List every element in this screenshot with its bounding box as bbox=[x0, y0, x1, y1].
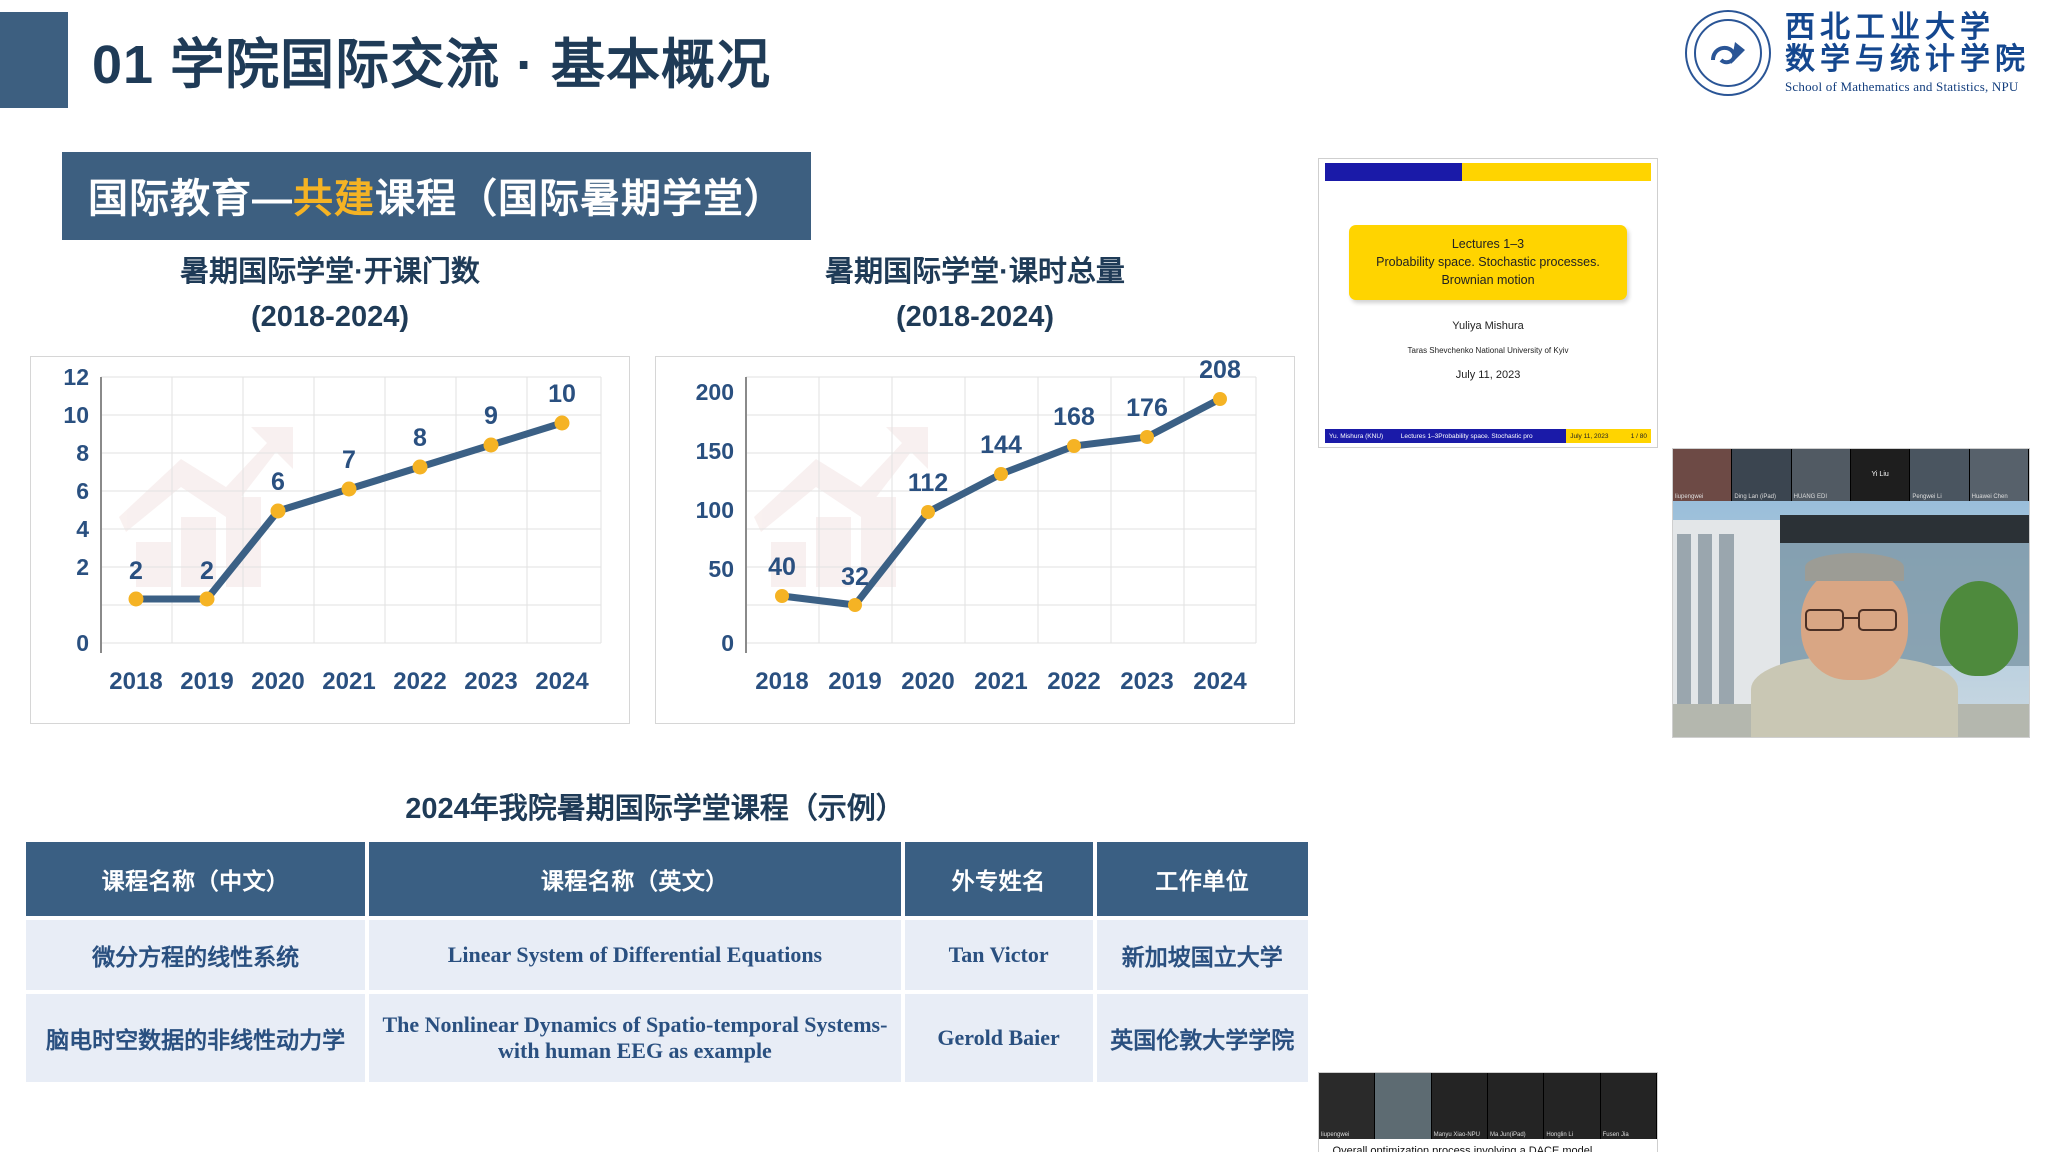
chart-total-hours: 暑期国际学堂·课时总量 (2018-2024) bbox=[655, 250, 1295, 724]
svg-text:9: 9 bbox=[484, 402, 498, 430]
svg-text:2018: 2018 bbox=[109, 668, 162, 695]
svg-text:150: 150 bbox=[696, 438, 734, 464]
svg-text:2023: 2023 bbox=[464, 668, 517, 695]
cell-course-en: Linear System of Differential Equations bbox=[369, 920, 901, 990]
zoom-tile-active: Yi Liu bbox=[1851, 449, 1910, 501]
beamer-topbar-blue bbox=[1325, 163, 1462, 181]
svg-text:0: 0 bbox=[721, 630, 734, 656]
svg-text:2023: 2023 bbox=[1120, 668, 1173, 695]
svg-text:2019: 2019 bbox=[180, 668, 233, 695]
dace-diagram-screenshot: liupengwei Manyu Xiao-NPU Ma Jun(iPad) H… bbox=[1318, 1072, 1658, 1152]
table-row: 脑电时空数据的非线性动力学 The Nonlinear Dynamics of … bbox=[26, 994, 1308, 1082]
svg-text:2021: 2021 bbox=[322, 668, 375, 695]
banner-text-before: 国际教育— bbox=[88, 177, 293, 221]
university-logo: 西北工业大学 数学与统计学院 School of Mathematics and… bbox=[1685, 10, 2030, 96]
zoom-participant-name: liupengwei bbox=[1675, 494, 1703, 500]
svg-text:2: 2 bbox=[129, 557, 143, 585]
zoom-participant-name: HUANG EDI bbox=[1794, 494, 1827, 500]
column-header-course-cn: 课程名称（中文） bbox=[26, 842, 365, 916]
svg-text:2024: 2024 bbox=[535, 668, 589, 695]
logo-english: School of Mathematics and Statistics, NP… bbox=[1785, 80, 2030, 94]
slide-root: 01 学院国际交流 · 基本概况 西北工业大学 数学与统计学院 School o… bbox=[0, 0, 2048, 1152]
zoom-tile: liupengwei bbox=[1319, 1073, 1375, 1139]
svg-text:8: 8 bbox=[76, 440, 89, 466]
svg-text:208: 208 bbox=[1199, 357, 1241, 384]
svg-text:4: 4 bbox=[76, 516, 89, 542]
beamer-footer-left: Yu. Mishura (KNU) bbox=[1325, 429, 1397, 443]
cell-course-en: The Nonlinear Dynamics of Spatio-tempora… bbox=[369, 994, 901, 1082]
column-header-course-en: 课程名称（英文） bbox=[369, 842, 901, 916]
zoom-tile: HUANG EDI bbox=[1792, 449, 1851, 501]
zoom-tile bbox=[1375, 1073, 1431, 1139]
zoom-tile: Ding Lan (iPad) bbox=[1732, 449, 1791, 501]
svg-text:2020: 2020 bbox=[901, 668, 954, 695]
cell-course-cn: 微分方程的线性系统 bbox=[26, 920, 365, 990]
svg-text:200: 200 bbox=[696, 379, 734, 405]
beamer-affiliation: Taras Shevchenko National University of … bbox=[1319, 346, 1657, 355]
page-title: 01 学院国际交流 · 基本概况 bbox=[92, 20, 771, 99]
course-table: 课程名称（中文） 课程名称（英文） 外专姓名 工作单位 微分方程的线性系统 Li… bbox=[22, 838, 1312, 1086]
chart2-frame: 200 150 100 50 0 40 bbox=[655, 356, 1295, 724]
svg-text:176: 176 bbox=[1126, 394, 1168, 422]
svg-text:0: 0 bbox=[76, 630, 89, 656]
logo-line-1: 西北工业大学 bbox=[1785, 12, 2030, 44]
svg-text:112: 112 bbox=[908, 469, 948, 497]
cell-institution: 英国伦敦大学学院 bbox=[1097, 994, 1308, 1082]
beamer-footer-mid: Lectures 1–3Probability space. Stochasti… bbox=[1397, 429, 1567, 443]
table-row: 微分方程的线性系统 Linear System of Differential … bbox=[26, 920, 1308, 990]
chart-open-courses: 暑期国际学堂·开课门数 (2018-2024) bbox=[30, 250, 630, 724]
svg-text:2: 2 bbox=[200, 557, 214, 585]
svg-text:2019: 2019 bbox=[828, 668, 881, 695]
svg-text:6: 6 bbox=[76, 478, 89, 504]
svg-text:2022: 2022 bbox=[1047, 668, 1100, 695]
svg-text:10: 10 bbox=[548, 380, 576, 408]
zoom-participant-name: Pengwei Li bbox=[1912, 494, 1941, 500]
table-header-row: 课程名称（中文） 课程名称（英文） 外专姓名 工作单位 bbox=[26, 842, 1308, 916]
beamer-footer-right: July 11, 2023 1 / 80 bbox=[1566, 429, 1651, 443]
banner-text-highlight: 共建 bbox=[293, 177, 375, 221]
column-header-institution: 工作单位 bbox=[1097, 842, 1308, 916]
beamer-title-box: Lectures 1–3 Probability space. Stochast… bbox=[1349, 225, 1626, 299]
svg-text:7: 7 bbox=[342, 446, 356, 474]
zoom-tile: Manyu Xiao-NPU bbox=[1432, 1073, 1488, 1139]
dace-caption: Overall optimization process involving a… bbox=[1333, 1145, 1593, 1152]
beamer-date: July 11, 2023 bbox=[1319, 369, 1657, 381]
chart2-title: 暑期国际学堂·课时总量 bbox=[655, 250, 1295, 295]
beamer-title-line1: Lectures 1–3 bbox=[1357, 235, 1618, 253]
zoom-participant-strip: liupengwei Ding Lan (iPad) HUANG EDI Yi … bbox=[1673, 449, 2029, 501]
chart1-subtitle: (2018-2024) bbox=[30, 295, 630, 340]
table-caption: 2024年我院暑期国际学堂课程（示例） bbox=[0, 785, 1310, 827]
chart1-svg: 12 10 8 6 4 2 0 bbox=[31, 357, 629, 723]
banner-text-after: 课程（国际暑期学堂） bbox=[375, 177, 785, 221]
cell-expert: Gerold Baier bbox=[905, 994, 1093, 1082]
svg-text:12: 12 bbox=[63, 364, 89, 390]
dace-zoom-strip: liupengwei Manyu Xiao-NPU Ma Jun(iPad) H… bbox=[1319, 1073, 1657, 1139]
zoom-participant-name: liupengwei bbox=[1321, 1132, 1349, 1138]
logo-line-2: 数学与统计学院 bbox=[1785, 44, 2030, 76]
svg-text:10: 10 bbox=[63, 402, 89, 428]
chart2-subtitle: (2018-2024) bbox=[655, 295, 1295, 340]
zoom-call-photo: liupengwei Ding Lan (iPad) HUANG EDI Yi … bbox=[1672, 448, 2030, 738]
svg-text:2022: 2022 bbox=[393, 668, 446, 695]
chart1-title: 暑期国际学堂·开课门数 bbox=[30, 250, 630, 295]
svg-text:2021: 2021 bbox=[974, 668, 1027, 695]
chart1-frame: 12 10 8 6 4 2 0 bbox=[30, 356, 630, 724]
lecture-slide-thumbnail: Lectures 1–3 Probability space. Stochast… bbox=[1318, 158, 1658, 448]
zoom-main-video bbox=[1673, 501, 2029, 737]
cell-expert: Tan Victor bbox=[905, 920, 1093, 990]
chart2-svg: 200 150 100 50 0 40 bbox=[656, 357, 1294, 723]
svg-text:50: 50 bbox=[708, 556, 734, 582]
zoom-participant-name: Manyu Xiao-NPU bbox=[1434, 1132, 1480, 1138]
beamer-topbar-yellow bbox=[1462, 163, 1651, 181]
cell-course-cn: 脑电时空数据的非线性动力学 bbox=[26, 994, 365, 1082]
zoom-active-name: Yi Liu bbox=[1872, 471, 1889, 478]
svg-text:32: 32 bbox=[841, 563, 869, 591]
column-header-expert: 外专姓名 bbox=[905, 842, 1093, 916]
svg-text:8: 8 bbox=[413, 424, 427, 452]
seal-icon bbox=[1685, 10, 1771, 96]
zoom-tile: Ma Jun(iPad) bbox=[1488, 1073, 1544, 1139]
svg-text:2: 2 bbox=[76, 554, 89, 580]
zoom-participant-name: Ma Jun(iPad) bbox=[1490, 1132, 1526, 1138]
beamer-title-line2: Probability space. Stochastic processes.… bbox=[1357, 253, 1618, 289]
svg-text:2018: 2018 bbox=[755, 668, 808, 695]
zoom-tile: Pengwei Li bbox=[1910, 449, 1969, 501]
beamer-footer-page: 1 / 80 bbox=[1631, 433, 1647, 440]
svg-text:100: 100 bbox=[696, 497, 734, 523]
zoom-tile: Honglin Li bbox=[1544, 1073, 1600, 1139]
svg-text:6: 6 bbox=[271, 468, 285, 496]
zoom-participant-name: Ding Lan (iPad) bbox=[1734, 494, 1776, 500]
zoom-tile: liupengwei bbox=[1673, 449, 1732, 501]
svg-text:2020: 2020 bbox=[251, 668, 304, 695]
zoom-tile: Huawei Chen bbox=[1970, 449, 2029, 501]
section-banner: 国际教育—共建课程（国际暑期学堂） bbox=[62, 152, 811, 240]
cell-institution: 新加坡国立大学 bbox=[1097, 920, 1308, 990]
title-accent-bar bbox=[0, 12, 68, 108]
zoom-participant-name: Honglin Li bbox=[1546, 1132, 1573, 1138]
svg-text:168: 168 bbox=[1053, 403, 1095, 431]
beamer-author: Yuliya Mishura bbox=[1319, 320, 1657, 332]
zoom-participant-name: Fusen Jia bbox=[1603, 1132, 1629, 1138]
beamer-footer: Yu. Mishura (KNU) Lectures 1–3Probabilit… bbox=[1325, 429, 1651, 443]
svg-text:40: 40 bbox=[768, 553, 796, 581]
zoom-participant-name: Huawei Chen bbox=[1972, 494, 2008, 500]
svg-text:2024: 2024 bbox=[1193, 668, 1247, 695]
beamer-footer-date: July 11, 2023 bbox=[1570, 433, 1608, 440]
zoom-tile: Fusen Jia bbox=[1601, 1073, 1657, 1139]
beamer-topbar bbox=[1325, 163, 1651, 181]
svg-text:144: 144 bbox=[980, 431, 1022, 459]
